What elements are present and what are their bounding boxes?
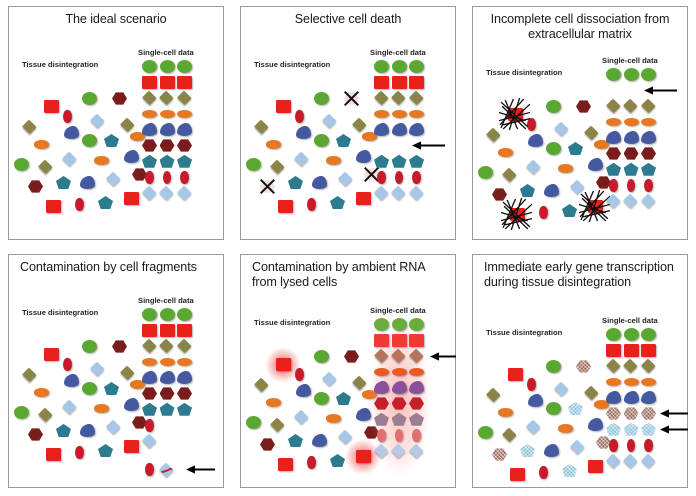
cell-diamond [392,91,407,106]
panel-title: Contamination by cell fragments [20,260,214,275]
cell-circle [409,60,424,73]
cell-circle [374,318,389,331]
cell-square [356,450,371,463]
cell-diamond [142,91,157,106]
cell-diamond [338,171,353,186]
cell-diamond [641,454,656,469]
cell-diamond [142,186,157,201]
cell-circle [314,350,329,363]
cell-tear [312,176,327,189]
cell-ellipse [160,358,175,366]
panel-selective-cell-death: Selective cell deathTissue disintegratio… [232,0,464,248]
cell-ellipse [641,118,656,126]
cell-diamond [90,361,105,376]
cell-pent [56,176,71,189]
cell-diamond [22,367,37,382]
cell-vellipse [180,171,188,184]
cell-pent [562,464,577,477]
cell-square [392,76,407,89]
cell-diamond [254,119,269,134]
cell-hex [641,407,656,420]
cell-circle [392,318,407,331]
cell-hex [177,387,192,400]
tissue-disintegration-label: Tissue disintegration [486,68,562,77]
cell-square [356,192,371,205]
cell-hex [112,340,127,353]
cell-tear [142,371,157,384]
cell-ellipse [392,110,407,118]
cell-square [588,460,603,473]
cell-circle [14,158,29,171]
panel-title: Selective cell death [248,12,448,27]
cell-diamond [486,387,501,402]
cell-vellipse [627,179,635,192]
single-cell-column [140,308,220,478]
cell-diamond [374,91,389,106]
tissue-cluster [12,72,152,222]
cell-tear [177,123,192,136]
cell-hex [160,387,175,400]
cell-ellipse [641,378,656,386]
cell-pent [606,423,621,436]
cell-circle [478,166,493,179]
pointer-arrow [660,424,688,435]
cell-tear [374,381,389,394]
single-cell-data-label: Single-cell data [138,296,194,305]
cell-tear [392,381,407,394]
cell-square [508,368,523,381]
cell-circle [82,340,97,353]
pointer-arrow [412,140,446,151]
cell-square [278,200,293,213]
cell-diamond [409,91,424,106]
cell-circle [641,328,656,341]
pointer-arrow [644,85,678,96]
cell-pent [520,184,535,197]
cell-vellipse [527,378,535,391]
cell-diamond [160,462,175,477]
cell-square [276,100,291,113]
cell-diamond [352,117,367,132]
cell-diamond [106,171,121,186]
cell-ellipse [606,378,621,386]
cell-death-x-icon [343,90,360,107]
cell-pent [177,155,192,168]
cell-square [409,76,424,89]
cell-tear [641,131,656,144]
cell-square [624,344,639,357]
cell-pent [568,402,583,415]
cell-circle [246,158,261,171]
cell-diamond [62,399,77,414]
cell-hex [606,147,621,160]
single-cell-column [372,60,452,230]
cell-vellipse [395,171,403,184]
cell-hex [142,139,157,152]
cell-ellipse [374,368,389,376]
cell-square [124,192,139,205]
cell-square [44,348,59,361]
pointer-arrow [186,464,216,475]
cell-diamond [38,407,53,422]
panel-content: Immediate early gene transcription durin… [472,254,688,488]
cell-circle [606,68,621,81]
panel-title: Immediate early gene transcription durin… [484,260,678,291]
cell-tear [356,150,371,163]
single-cell-data-label: Single-cell data [602,56,658,65]
cell-pent [288,176,303,189]
cell-tear [142,123,157,136]
tissue-cluster [244,72,384,222]
cell-pent [142,155,157,168]
cell-circle [142,60,157,73]
cell-diamond [22,119,37,134]
cell-square [606,344,621,357]
cell-circle [624,68,639,81]
cell-diamond [160,339,175,354]
cell-circle [478,426,493,439]
cell-vellipse [307,456,315,469]
cell-tear [544,444,559,457]
cell-diamond [392,186,407,201]
cell-square [142,324,157,337]
cell-hex [641,147,656,160]
cell-diamond [106,419,121,434]
cell-circle [374,60,389,73]
cell-ellipse [409,368,424,376]
cell-circle [142,308,157,321]
cell-diamond [294,409,309,424]
cell-diamond [606,359,621,374]
cell-hex [177,139,192,152]
cell-pent [288,434,303,447]
cell-circle [160,60,175,73]
cell-vellipse [63,110,71,123]
cell-diamond [584,125,599,140]
cell-circle [641,68,656,81]
cell-vellipse [412,429,420,442]
cell-hex [576,100,591,113]
cell-circle [392,60,407,73]
cell-ellipse [160,110,175,118]
cell-ellipse [558,164,573,172]
cell-ellipse [34,388,49,396]
cell-circle [314,92,329,105]
extracellular-matrix-scribble [501,198,534,236]
cell-square [124,440,139,453]
cell-circle [546,100,561,113]
cell-diamond [409,186,424,201]
cell-circle [314,134,329,147]
cell-diamond [177,91,192,106]
cell-diamond [120,117,135,132]
cell-pent [624,423,639,436]
cell-hex [344,350,359,363]
cell-circle [177,60,192,73]
cell-hex [606,407,621,420]
single-cell-data-label: Single-cell data [370,48,426,57]
cell-pent [104,382,119,395]
cell-vellipse [145,419,153,432]
cell-vellipse [644,439,652,452]
panel-ideal-scenario: The ideal scenarioTissue disintegrationS… [0,0,232,248]
cell-ellipse [177,110,192,118]
cell-vellipse [412,171,420,184]
cell-diamond [641,194,656,209]
tissue-cluster [12,320,152,470]
cell-pent [142,403,157,416]
cell-ellipse [498,148,513,156]
tissue-disintegration-label: Tissue disintegration [22,60,98,69]
cell-diamond [294,151,309,166]
panel-content: Contamination by cell fragmentsTissue di… [8,254,224,488]
cell-pent [160,155,175,168]
cell-square [510,468,525,481]
cell-circle [82,382,97,395]
cell-vellipse [75,446,83,459]
panel-ambient-rna: Contamination by ambient RNA from lysed … [232,248,464,496]
cell-ellipse [94,156,109,164]
cell-square [278,458,293,471]
cell-hex [142,387,157,400]
cell-ellipse [624,118,639,126]
panel-title: The ideal scenario [16,12,216,27]
cell-tear [392,123,407,136]
panel-content: The ideal scenarioTissue disintegrationS… [8,6,224,240]
cell-diamond [641,359,656,374]
cell-vellipse [75,198,83,211]
cell-diamond [177,186,192,201]
cell-pent [606,163,621,176]
cell-tear [624,131,639,144]
cell-vellipse [627,439,635,452]
cell-vellipse [395,429,403,442]
cell-diamond [624,359,639,374]
cell-square [46,200,61,213]
cell-tear [296,384,311,397]
cell-circle [14,406,29,419]
cell-hex [624,147,639,160]
tissue-cluster [476,340,616,488]
cell-vellipse [377,171,385,184]
cell-tear [80,176,95,189]
cell-circle [246,416,261,429]
cell-square [374,76,389,89]
panel-cell-fragments: Contamination by cell fragmentsTissue di… [0,248,232,496]
cell-ellipse [606,118,621,126]
single-cell-column [604,68,684,238]
pointer-arrow [660,408,688,419]
tissue-cluster [476,80,616,230]
cell-pent [336,392,351,405]
cell-tear [296,126,311,139]
cell-diamond [606,454,621,469]
cell-circle [624,328,639,341]
cell-ellipse [142,110,157,118]
cell-vellipse [145,171,153,184]
cell-tear [409,381,424,394]
cell-circle [82,134,97,147]
tissue-disintegration-label: Tissue disintegration [254,60,330,69]
tissue-disintegration-label: Tissue disintegration [486,328,562,337]
cell-diamond [160,91,175,106]
cell-tear [80,424,95,437]
cell-square [409,334,424,347]
extracellular-matrix-scribble [499,98,532,136]
cell-tear [160,371,175,384]
cell-pent [392,155,407,168]
tissue-cluster [244,330,384,480]
cell-diamond [62,151,77,166]
single-cell-column [140,60,220,230]
cell-pent [624,163,639,176]
cell-tear [641,391,656,404]
cell-ellipse [558,424,573,432]
cell-diamond [90,113,105,128]
cell-diamond [526,419,541,434]
panel-content: Selective cell deathTissue disintegratio… [240,6,456,240]
cell-vellipse [539,466,547,479]
cell-ellipse [34,140,49,148]
cell-tear [160,123,175,136]
cell-diamond [142,339,157,354]
cell-pent [104,134,119,147]
cell-ellipse [326,156,341,164]
cell-ellipse [266,140,281,148]
cell-circle [314,392,329,405]
cell-pent [177,403,192,416]
cell-tear [124,150,139,163]
cell-tear [124,398,139,411]
cell-diamond [177,339,192,354]
panel-immediate-early-gene: Immediate early gene transcription durin… [464,248,696,496]
cell-ellipse [142,358,157,366]
cell-tear [312,434,327,447]
cell-hex [28,428,43,441]
single-cell-column [604,328,684,488]
cell-diamond [142,434,157,449]
cell-ellipse [624,378,639,386]
cell-square [374,334,389,347]
cell-pent [160,403,175,416]
cell-diamond [570,439,585,454]
cell-vellipse [63,358,71,371]
cell-hex [576,360,591,373]
single-cell-data-label: Single-cell data [602,316,658,325]
cell-pent [641,163,656,176]
cell-square [177,76,192,89]
cell-circle [546,142,561,155]
pointer-arrow [430,351,456,362]
cell-pent [562,204,577,217]
cell-pent [56,424,71,437]
cell-diamond [502,427,517,442]
cell-pent [568,142,583,155]
cell-tear [409,123,424,136]
panel-title: Contamination by ambient RNA from lysed … [252,260,446,291]
figure-grid: The ideal scenarioTissue disintegrationS… [0,0,696,496]
cell-square [160,76,175,89]
cell-vellipse [145,463,153,476]
cell-pent [409,155,424,168]
cell-circle [177,308,192,321]
cell-square [392,334,407,347]
cell-diamond [374,186,389,201]
panel-incomplete-dissociation: Incomplete cell dissociation from extrac… [464,0,696,248]
cell-diamond [120,365,135,380]
cell-diamond [624,194,639,209]
cell-death-x-icon [259,178,276,195]
cell-tear [64,126,79,139]
cell-pent [98,196,113,209]
cell-diamond [641,99,656,114]
cell-circle [546,402,561,415]
cell-vellipse [539,206,547,219]
cell-circle [546,360,561,373]
cell-vellipse [307,198,315,211]
cell-diamond [584,385,599,400]
cell-hex [112,92,127,105]
cell-vellipse [644,179,652,192]
panel-title: Incomplete cell dissociation from extrac… [480,12,680,43]
cell-tear [588,158,603,171]
cell-vellipse [295,110,303,123]
cell-circle [160,308,175,321]
cell-circle [82,92,97,105]
cell-ellipse [374,110,389,118]
cell-tear [544,184,559,197]
cell-square [44,100,59,113]
cell-tear [588,418,603,431]
cell-diamond [502,167,517,182]
cell-ellipse [94,404,109,412]
cell-hex [28,180,43,193]
cell-square [276,358,291,371]
cell-diamond [554,121,569,136]
cell-square [160,324,175,337]
cell-ellipse [266,398,281,406]
panel-content: Contamination by ambient RNA from lysed … [240,254,456,488]
cell-ellipse [177,358,192,366]
single-cell-data-label: Single-cell data [138,48,194,57]
cell-diamond [606,194,621,209]
cell-ellipse [392,368,407,376]
cell-diamond [270,159,285,174]
cell-hex [492,448,507,461]
cell-ellipse [409,110,424,118]
cell-tear [624,391,639,404]
cell-vellipse [295,368,303,381]
cell-diamond [322,113,337,128]
cell-tear [177,371,192,384]
cell-ellipse [326,414,341,422]
cell-hex [624,407,639,420]
cell-diamond [38,159,53,174]
cell-pent [98,444,113,457]
cell-tear [64,374,79,387]
cell-diamond [526,159,541,174]
cell-vellipse [609,179,617,192]
cell-vellipse [609,439,617,452]
cell-vellipse [163,171,171,184]
cell-hex [160,139,175,152]
cell-diamond [554,381,569,396]
tissue-disintegration-label: Tissue disintegration [22,308,98,317]
cell-vellipse [377,429,385,442]
cell-pent [336,134,351,147]
cell-pent [374,155,389,168]
cell-hex [260,438,275,451]
